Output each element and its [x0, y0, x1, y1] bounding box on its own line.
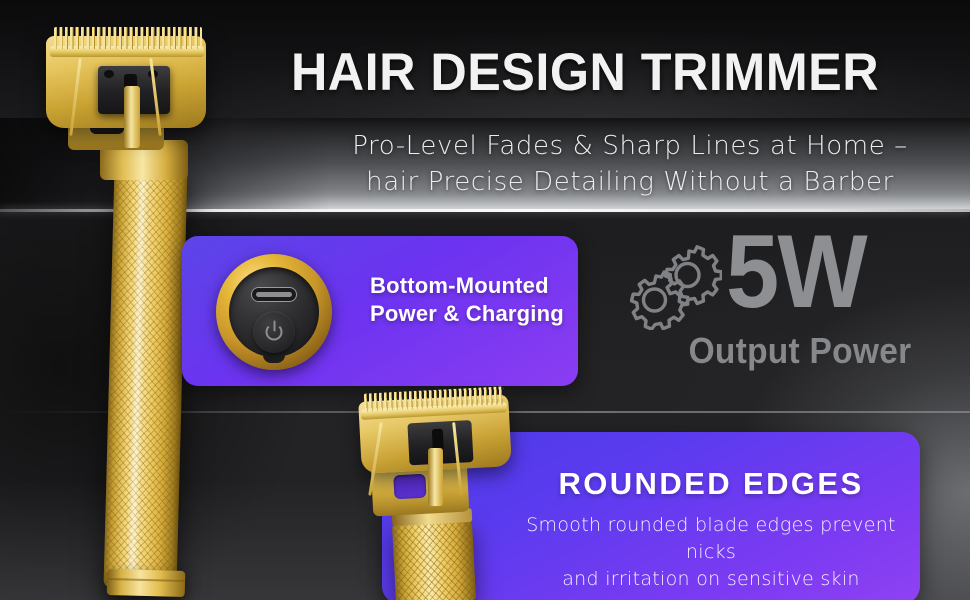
spec-output-power: 5W Output Power	[628, 232, 958, 392]
product-banner: 5W Output Power HAIR DESIGN TRIMMER Pro-…	[0, 0, 970, 600]
power-label-line-2: Power & Charging	[370, 300, 566, 328]
subtitle-line-1: Pro-Level Fades & Sharp Lines at Home –	[300, 128, 960, 164]
trimmer2-lever-cutout	[393, 474, 426, 500]
trimmer2-knurl-texture	[392, 520, 476, 600]
trimmer2-clip	[428, 448, 443, 506]
power-label-line-1: Bottom-Mounted	[370, 272, 566, 300]
trimmer-body	[104, 167, 188, 589]
power-button-icon	[253, 311, 295, 353]
spec-power-value: 5W	[726, 220, 866, 324]
feature-card-power: Bottom-Mounted Power & Charging	[182, 236, 578, 386]
gold-hair-trimmer-blade-closeup	[336, 382, 540, 600]
trimmer-base-photo	[216, 254, 332, 370]
trimmer-clip	[124, 86, 140, 148]
power-symbol-icon	[266, 324, 283, 341]
usb-c-port-icon	[251, 287, 297, 302]
spec-power-label: Output Power	[653, 330, 947, 372]
trimmer-blade-teeth	[54, 27, 202, 49]
edges-body-line-1: Smooth rounded blade edges prevent nicks	[502, 512, 920, 566]
trimmer-base-ring	[107, 569, 186, 597]
subtitle-line-2: hair Precise Detailing Without a Barber	[300, 164, 960, 200]
page-title: HAIR DESIGN TRIMMER	[253, 42, 918, 103]
page-subtitle: Pro-Level Fades & Sharp Lines at Home – …	[300, 128, 960, 200]
edges-body-line-2: and irritation on sensitive skin	[502, 566, 920, 593]
gears-icon	[630, 242, 722, 330]
feature-card-power-label: Bottom-Mounted Power & Charging	[370, 272, 566, 328]
trimmer2-body	[392, 520, 476, 600]
trimmer-base-inner	[229, 267, 319, 357]
